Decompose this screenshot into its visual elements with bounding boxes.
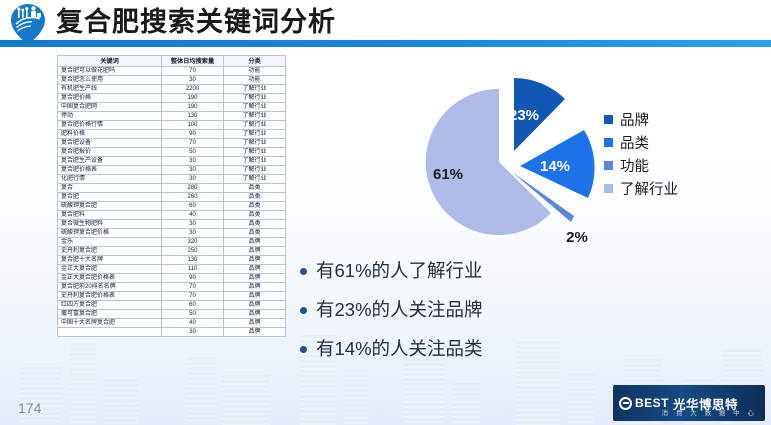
cell-category: 了解行业 <box>224 148 286 157</box>
bullet-item: 有61%的人了解行业 <box>300 258 600 284</box>
cell-volume: 50 <box>162 148 224 157</box>
table-row: 复合肥260品类 <box>58 193 286 202</box>
cell-volume: 30 <box>162 76 224 85</box>
legend-swatch-icon <box>604 138 613 147</box>
table-row: 肥料价格90了解行业 <box>58 130 286 139</box>
cell-category: 功能 <box>224 76 286 85</box>
slide-header: 复合肥搜索关键词分析 <box>0 0 771 47</box>
table-row: 复合肥生产设备30了解行业 <box>58 157 286 166</box>
cell-volume: 30 <box>162 328 224 337</box>
table-row: 复合肥十大名牌130品牌 <box>58 256 286 265</box>
table-row: 史丹利复合肥250品牌 <box>58 247 286 256</box>
slide-root: 复合肥搜索关键词分析 关键词 整体日均搜索量 分类 复合肥可以做花肥吗70功能复… <box>0 0 771 425</box>
legend-item-function[interactable]: 功能 <box>604 154 734 177</box>
cell-volume: 30 <box>162 229 224 238</box>
cell-category: 品牌 <box>224 328 286 337</box>
table-row: 停动130了解行业 <box>58 112 286 121</box>
cell-category: 了解行业 <box>224 175 286 184</box>
cell-category: 品牌 <box>224 274 286 283</box>
cell-volume: 2200 <box>162 85 224 94</box>
cell-category: 了解行业 <box>224 139 286 148</box>
cell-volume: 70 <box>162 139 224 148</box>
cell-volume: 60 <box>162 301 224 310</box>
cell-keyword: 金正大复合肥价格表 <box>58 274 162 283</box>
cell-keyword: 复合肥价格行情 <box>58 121 162 130</box>
cell-volume: 190 <box>162 103 224 112</box>
header-rule <box>0 40 771 47</box>
legend-label: 了解行业 <box>620 178 678 199</box>
cell-keyword: 复合肥前20排名名牌 <box>58 283 162 292</box>
cell-keyword: 红四方复合肥 <box>58 301 162 310</box>
cell-category: 品牌 <box>224 310 286 319</box>
cell-category: 品牌 <box>224 238 286 247</box>
cell-volume: 190 <box>162 94 224 103</box>
cell-category: 品类 <box>224 229 286 238</box>
cell-category: 品类 <box>224 202 286 211</box>
cell-volume: 70 <box>162 283 224 292</box>
table-row: 硫酸钾复合肥60品类 <box>58 202 286 211</box>
table-row: 复合肥料40品类 <box>58 211 286 220</box>
table-row: 复合肥价格190了解行业 <box>58 94 286 103</box>
pie-chart: 23% 14% 2% 61% <box>388 58 628 253</box>
cell-keyword: 中国复合肥网 <box>58 103 162 112</box>
cell-volume: 260 <box>162 193 224 202</box>
cell-category: 了解行业 <box>224 103 286 112</box>
cell-keyword: 中国十大名牌复合肥 <box>58 319 162 328</box>
cell-keyword: 复合肥报价 <box>58 148 162 157</box>
table-row: 30品牌 <box>58 328 286 337</box>
table-row: 硫酸钾复合肥价格30品类 <box>58 229 286 238</box>
legend-item-understand-industry[interactable]: 了解行业 <box>604 177 734 200</box>
cell-category: 了解行业 <box>224 130 286 139</box>
cell-category: 品牌 <box>224 292 286 301</box>
bullet-dot-icon <box>300 346 307 353</box>
cell-keyword: 复合肥生产设备 <box>58 157 162 166</box>
cell-volume: 90 <box>162 130 224 139</box>
cell-keyword: 复合肥 <box>58 193 162 202</box>
keyword-table-wrap: 关键词 整体日均搜索量 分类 复合肥可以做花肥吗70功能复合肥怎么使用30功能有… <box>57 55 285 337</box>
cell-keyword: 肥料价格 <box>58 130 162 139</box>
table-row: 撒可富复合肥50品牌 <box>58 310 286 319</box>
cell-volume: 250 <box>162 247 224 256</box>
cell-volume: 30 <box>162 175 224 184</box>
table-row: 复合肥报价50了解行业 <box>58 148 286 157</box>
table-row: 复合微生物肥料30品类 <box>58 220 286 229</box>
cell-keyword: 复合肥可以做花肥吗 <box>58 67 162 76</box>
table-row: 金正大复合肥110品牌 <box>58 265 286 274</box>
cell-volume: 30 <box>162 166 224 175</box>
bullet-text: 有61%的人了解行业 <box>316 258 483 284</box>
cell-keyword: 金正大复合肥 <box>58 265 162 274</box>
insight-bullets: 有61%的人了解行业 有23%的人关注品牌 有14%的人关注品类 <box>300 258 600 375</box>
column-header-keyword: 关键词 <box>58 56 162 67</box>
cell-keyword: 化肥行情 <box>58 175 162 184</box>
cell-category: 品牌 <box>224 301 286 310</box>
pie-label-understand-industry: 61% <box>433 166 463 183</box>
cell-category: 了解行业 <box>224 94 286 103</box>
table-row: 红四方复合肥60品牌 <box>58 301 286 310</box>
column-header-volume: 整体日均搜索量 <box>162 56 224 67</box>
cell-volume: 70 <box>162 67 224 76</box>
table-row: 史丹利复合肥价格表70品牌 <box>58 292 286 301</box>
table-row: 有机肥生产线2200了解行业 <box>58 85 286 94</box>
keyword-table: 关键词 整体日均搜索量 分类 复合肥可以做花肥吗70功能复合肥怎么使用30功能有… <box>57 55 286 337</box>
cell-volume: 100 <box>162 121 224 130</box>
cell-keyword: 史丹利复合肥价格表 <box>58 292 162 301</box>
cell-volume: 320 <box>162 238 224 247</box>
cell-volume: 30 <box>162 220 224 229</box>
cell-keyword: 硫酸钾复合肥价格 <box>58 229 162 238</box>
cell-volume: 40 <box>162 211 224 220</box>
table-row: 中国复合肥网190了解行业 <box>58 103 286 112</box>
cell-volume: 60 <box>162 202 224 211</box>
cell-category: 品类 <box>224 211 286 220</box>
cell-keyword: 硫酸钾复合肥 <box>58 202 162 211</box>
page-title: 复合肥搜索关键词分析 <box>56 2 336 42</box>
cell-keyword: 停动 <box>58 112 162 121</box>
cell-keyword: 复合微生物肥料 <box>58 220 162 229</box>
cell-category: 了解行业 <box>224 166 286 175</box>
cell-keyword: 复合肥十大名牌 <box>58 256 162 265</box>
pie-label-function: 2% <box>566 229 588 246</box>
table-row: 复合肥设备70了解行业 <box>58 139 286 148</box>
table-row: 金乐320品牌 <box>58 238 286 247</box>
cell-keyword: 有机肥生产线 <box>58 85 162 94</box>
table-row: 复合肥可以做花肥吗70功能 <box>58 67 286 76</box>
bullet-dot-icon <box>300 307 307 314</box>
cell-keyword: 史丹利复合肥 <box>58 247 162 256</box>
cell-keyword: 金乐 <box>58 238 162 247</box>
table-row: 复合肥怎么使用30功能 <box>58 76 286 85</box>
cell-category: 品类 <box>224 184 286 193</box>
cell-category: 品牌 <box>224 265 286 274</box>
cell-category: 品类 <box>224 193 286 202</box>
cell-keyword: 复合肥价格表 <box>58 166 162 175</box>
pie-label-brand: 23% <box>509 107 539 124</box>
cell-category: 了解行业 <box>224 85 286 94</box>
chart-legend: 品牌 品类 功能 了解行业 <box>604 108 734 200</box>
cell-category: 品牌 <box>224 256 286 265</box>
bullet-item: 有14%的人关注品类 <box>300 336 600 362</box>
cell-volume: 40 <box>162 319 224 328</box>
legend-swatch-icon <box>604 115 613 124</box>
table-row: 复合肥价格表30了解行业 <box>58 166 286 175</box>
best-circle-icon <box>619 397 632 410</box>
cell-category: 了解行业 <box>224 121 286 130</box>
cell-keyword: 复合 <box>58 184 162 193</box>
cell-category: 品牌 <box>224 247 286 256</box>
table-row: 复合肥价格行情100了解行业 <box>58 121 286 130</box>
legend-item-brand[interactable]: 品牌 <box>604 108 734 131</box>
legend-item-category[interactable]: 品类 <box>604 131 734 154</box>
table-body: 复合肥可以做花肥吗70功能复合肥怎么使用30功能有机肥生产线2200了解行业复合… <box>58 67 286 337</box>
legend-label: 品牌 <box>620 109 649 130</box>
column-header-category: 分类 <box>224 56 286 67</box>
legend-swatch-icon <box>604 161 613 170</box>
page-number: 174 <box>18 400 41 416</box>
cell-volume: 70 <box>162 292 224 301</box>
bullet-dot-icon <box>300 268 307 275</box>
cell-volume: 90 <box>162 274 224 283</box>
cell-keyword: 复合肥设备 <box>58 139 162 148</box>
table-row: 化肥行情30了解行业 <box>58 175 286 184</box>
cell-volume: 130 <box>162 112 224 121</box>
table-row: 复合280品类 <box>58 184 286 193</box>
cell-volume: 50 <box>162 310 224 319</box>
cell-volume: 130 <box>162 256 224 265</box>
cell-category: 品牌 <box>224 319 286 328</box>
table-row: 中国十大名牌复合肥40品牌 <box>58 319 286 328</box>
table-row: 金正大复合肥价格表90品牌 <box>58 274 286 283</box>
table-header-row: 关键词 整体日均搜索量 分类 <box>58 56 286 67</box>
legend-label: 品类 <box>620 132 649 153</box>
bullet-item: 有23%的人关注品牌 <box>300 297 600 323</box>
cell-keyword: 复合肥怎么使用 <box>58 76 162 85</box>
cell-volume: 110 <box>162 265 224 274</box>
cell-volume: 280 <box>162 184 224 193</box>
cell-keyword: 复合肥价格 <box>58 94 162 103</box>
bullet-text: 有23%的人关注品牌 <box>316 297 483 323</box>
table-row: 复合肥前20排名名牌70品牌 <box>58 283 286 292</box>
cell-category: 品类 <box>224 220 286 229</box>
cell-keyword: 复合肥料 <box>58 211 162 220</box>
bullet-text: 有14%的人关注品类 <box>316 336 483 362</box>
legend-label: 功能 <box>620 155 649 176</box>
cell-category: 功能 <box>224 67 286 76</box>
cell-category: 了解行业 <box>224 112 286 121</box>
brand-subtitle: 消 费 大 数 据 中 心 <box>662 407 757 417</box>
cell-keyword <box>58 328 162 337</box>
cell-category: 了解行业 <box>224 157 286 166</box>
cell-category: 品牌 <box>224 283 286 292</box>
legend-swatch-icon <box>604 184 613 193</box>
cell-volume: 30 <box>162 157 224 166</box>
pie-label-category: 14% <box>540 158 570 175</box>
brand-logo: BEST 光华博思特 消 费 大 数 据 中 心 <box>613 385 765 421</box>
cell-keyword: 撒可富复合肥 <box>58 310 162 319</box>
